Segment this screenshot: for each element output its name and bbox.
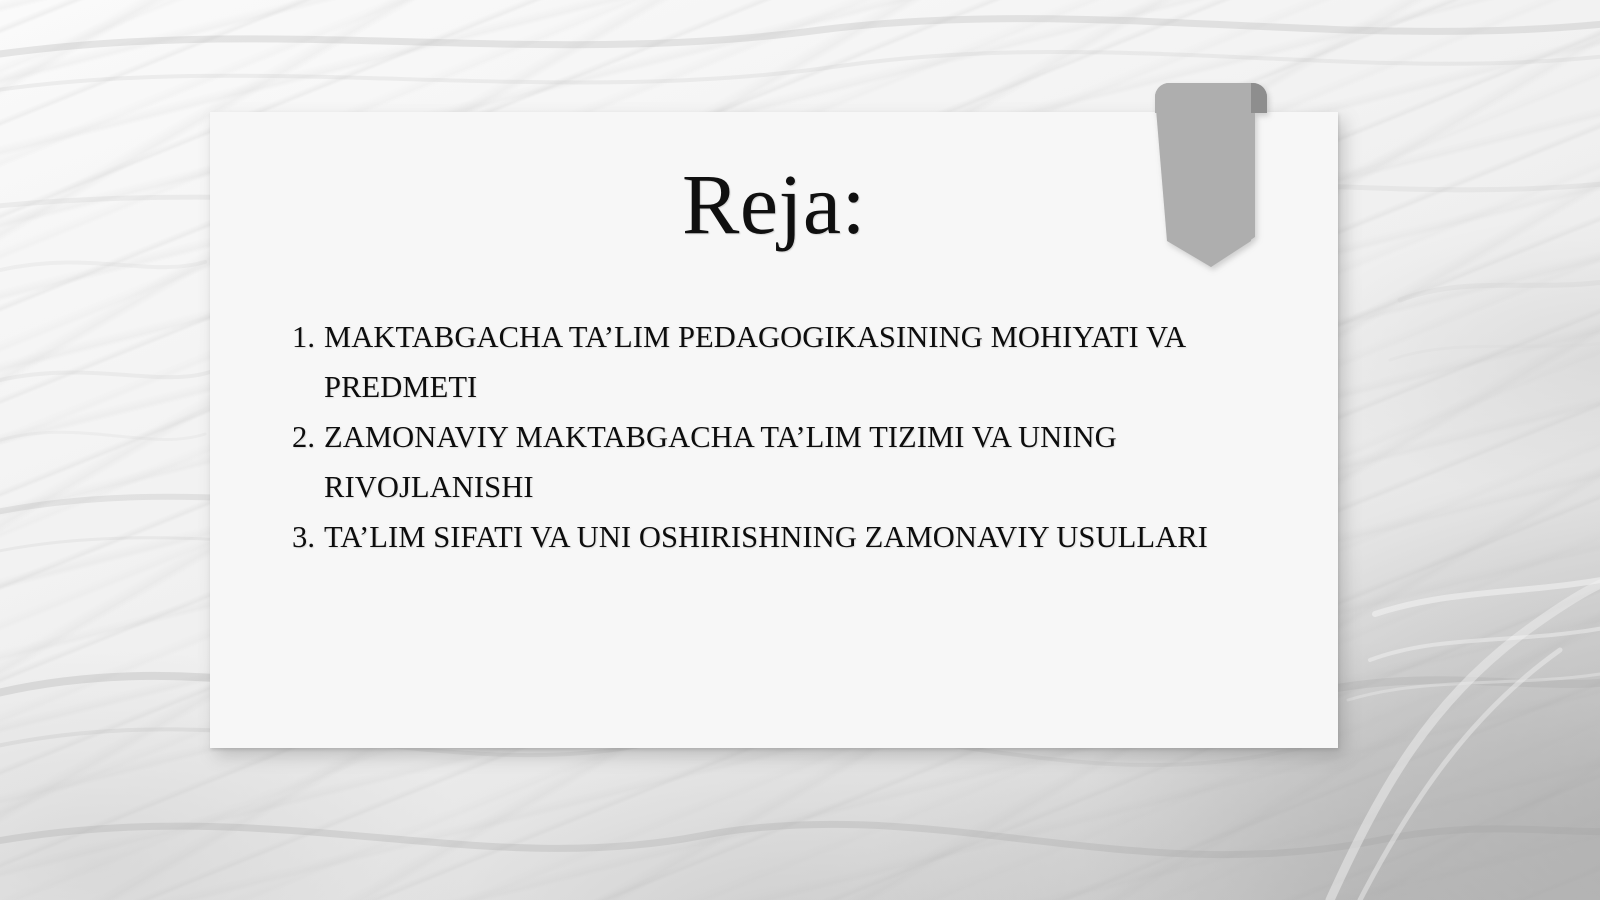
list-item-number: 2.	[292, 412, 324, 462]
list-item: 1. MAKTABGACHA TA’LIM PEDAGOGIKASINING M…	[292, 312, 1302, 412]
page-title: Reja:	[210, 160, 1338, 249]
presentation-slide: Reja: 1. MAKTABGACHA TA’LIM PEDAGOGIKASI…	[0, 0, 1600, 900]
list-item: 3. TA’LIM SIFATI VA UNI OSHIRISHNING ZAM…	[292, 512, 1302, 562]
list-item: 2. ZAMONAVIY MAKTABGACHA TA’LIM TIZIMI V…	[292, 412, 1302, 512]
list-item-label: ZAMONAVIY MAKTABGACHA TA’LIM TIZIMI VA U…	[324, 412, 1302, 512]
list-item-number: 1.	[292, 312, 324, 362]
list-item-label: MAKTABGACHA TA’LIM PEDAGOGIKASINING MOHI…	[324, 312, 1302, 412]
list-item-number: 3.	[292, 512, 324, 562]
list-item-label: TA’LIM SIFATI VA UNI OSHIRISHNING ZAMONA…	[324, 512, 1302, 562]
agenda-list: 1. MAKTABGACHA TA’LIM PEDAGOGIKASINING M…	[292, 312, 1302, 562]
